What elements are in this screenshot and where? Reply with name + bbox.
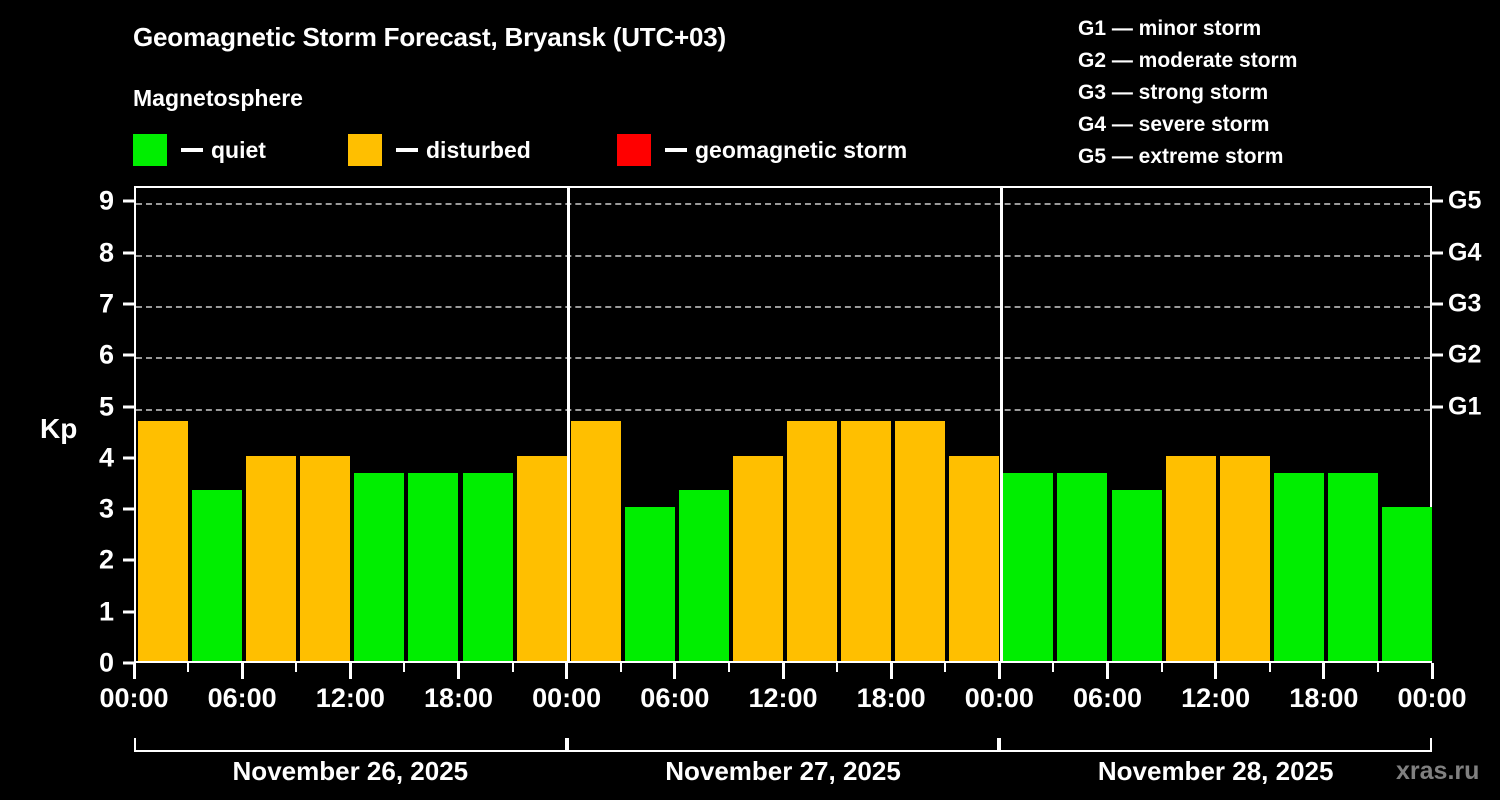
date-bracket [999, 738, 1432, 752]
g-tick-mark-g1 [1432, 405, 1443, 408]
kp-bar[interactable] [571, 421, 621, 661]
x-tick-major [673, 663, 676, 679]
x-tick-label: 18:00 [424, 683, 493, 714]
y-axis-ticks: 0123456789 [62, 186, 114, 663]
x-axis: 00:0006:0012:0018:0000:0006:0012:0018:00… [0, 663, 1500, 723]
x-tick-major [457, 663, 460, 679]
x-tick-minor [944, 663, 946, 672]
y-tick-mark-9 [123, 200, 134, 203]
y-tick-label-2: 2 [74, 545, 114, 576]
kp-bar[interactable] [1328, 473, 1378, 661]
x-tick-major [241, 663, 244, 679]
gridline-kp-6 [136, 357, 1430, 359]
magnetosphere-section-label: Magnetosphere [133, 85, 303, 112]
g-legend-row-g5: G5 — extreme storm [1078, 141, 1297, 173]
g-legend-row-g3: G3 — strong storm [1078, 77, 1297, 109]
quiet-legend-swatch-icon [133, 134, 167, 166]
kp-bar[interactable] [354, 473, 404, 661]
x-tick-major [1431, 663, 1434, 679]
x-tick-label: 00:00 [99, 683, 168, 714]
date-label: November 27, 2025 [665, 756, 901, 787]
date-axis: November 26, 2025November 27, 2025Novemb… [0, 738, 1500, 800]
g-tick-label-g5: G5 [1448, 187, 1481, 216]
y-tick-mark-6 [123, 354, 134, 357]
g-tick-label-g1: G1 [1448, 392, 1481, 421]
kp-bar[interactable] [1166, 456, 1216, 661]
kp-bar[interactable] [1382, 507, 1432, 661]
legend-dash-icon [181, 148, 203, 152]
x-tick-major [1106, 663, 1109, 679]
gridline-kp-8 [136, 255, 1430, 257]
kp-bar[interactable] [787, 421, 837, 661]
y-tick-label-6: 6 [74, 340, 114, 371]
geomagnetic-forecast-chart: Geomagnetic Storm Forecast, Bryansk (UTC… [0, 0, 1500, 800]
storm-legend-text: geomagnetic storm [695, 137, 907, 164]
x-tick-major [1322, 663, 1325, 679]
g-tick-label-g2: G2 [1448, 341, 1481, 370]
storm-legend: geomagnetic storm [617, 134, 907, 166]
x-tick-major [1214, 663, 1217, 679]
g-tick-mark-g4 [1432, 251, 1443, 254]
g-tick-mark-g2 [1432, 354, 1443, 357]
kp-bar[interactable] [408, 473, 458, 661]
date-bracket [567, 738, 1000, 752]
g-tick-mark-g5 [1432, 200, 1443, 203]
gridline-kp-7 [136, 306, 1430, 308]
day-separator [1000, 186, 1003, 663]
x-tick-label: 12:00 [316, 683, 385, 714]
y-tick-label-9: 9 [74, 186, 114, 217]
x-tick-minor [836, 663, 838, 672]
x-tick-label: 12:00 [1181, 683, 1250, 714]
x-tick-label: 06:00 [1073, 683, 1142, 714]
x-tick-minor [187, 663, 189, 672]
date-label: November 26, 2025 [233, 756, 469, 787]
g-legend-row-g2: G2 — moderate storm [1078, 45, 1297, 77]
x-tick-major [349, 663, 352, 679]
kp-bar[interactable] [300, 456, 350, 661]
g-tick-mark-g3 [1432, 302, 1443, 305]
plot-area [134, 186, 1432, 663]
y-tick-label-5: 5 [74, 391, 114, 422]
y-tick-mark-2 [123, 559, 134, 562]
x-tick-label: 12:00 [748, 683, 817, 714]
x-tick-minor [620, 663, 622, 672]
x-tick-major [890, 663, 893, 679]
y-tick-mark-7 [123, 302, 134, 305]
x-tick-label: 00:00 [532, 683, 601, 714]
quiet-legend: quiet [133, 134, 266, 166]
kp-bar[interactable] [138, 421, 188, 661]
kp-bar[interactable] [1112, 490, 1162, 661]
watermark: xras.ru [1396, 757, 1479, 786]
kp-bar[interactable] [679, 490, 729, 661]
y-tick-mark-0 [123, 662, 134, 665]
g-legend-row-g1: G1 — minor storm [1078, 13, 1297, 45]
g-tick-label-g3: G3 [1448, 289, 1481, 318]
kp-bar[interactable] [1220, 456, 1270, 661]
x-tick-minor [295, 663, 297, 672]
x-tick-minor [1161, 663, 1163, 672]
y-tick-mark-5 [123, 405, 134, 408]
plot-inner [136, 188, 1430, 661]
y-tick-mark-3 [123, 508, 134, 511]
x-tick-label: 00:00 [965, 683, 1034, 714]
y-tick-mark-1 [123, 610, 134, 613]
g-scale-axis: G1G2G3G4G5 [1432, 186, 1500, 663]
quiet-legend-text: quiet [211, 137, 266, 164]
x-tick-minor [1377, 663, 1379, 672]
disturbed-legend: disturbed [348, 134, 531, 166]
kp-bar[interactable] [463, 473, 513, 661]
x-tick-minor [403, 663, 405, 672]
g-legend-row-g4: G4 — severe storm [1078, 109, 1297, 141]
x-tick-minor [1052, 663, 1054, 672]
page-title: Geomagnetic Storm Forecast, Bryansk (UTC… [133, 22, 726, 53]
day-separator [567, 186, 570, 663]
kp-bar[interactable] [733, 456, 783, 661]
x-tick-label: 00:00 [1397, 683, 1466, 714]
legend-dash-icon [665, 148, 687, 152]
date-label: November 28, 2025 [1098, 756, 1334, 787]
gridline-kp-9 [136, 203, 1430, 205]
x-tick-label: 18:00 [1289, 683, 1358, 714]
disturbed-legend-swatch-icon [348, 134, 382, 166]
x-tick-minor [1269, 663, 1271, 672]
y-tick-mark-8 [123, 251, 134, 254]
storm-legend-swatch-icon [617, 134, 651, 166]
kp-bar[interactable] [1057, 473, 1107, 661]
kp-bar[interactable] [1003, 473, 1053, 661]
legend-dash-icon [396, 148, 418, 152]
y-tick-label-8: 8 [74, 237, 114, 268]
x-tick-major [782, 663, 785, 679]
kp-bar[interactable] [841, 421, 891, 661]
x-tick-minor [512, 663, 514, 672]
x-tick-major [998, 663, 1001, 679]
kp-bar[interactable] [625, 507, 675, 661]
kp-bar[interactable] [895, 421, 945, 661]
x-tick-label: 06:00 [208, 683, 277, 714]
y-tick-label-3: 3 [74, 494, 114, 525]
x-tick-label: 18:00 [857, 683, 926, 714]
x-tick-major [133, 663, 136, 679]
x-tick-label: 06:00 [640, 683, 709, 714]
y-tick-mark-4 [123, 456, 134, 459]
y-tick-label-7: 7 [74, 288, 114, 319]
kp-bar[interactable] [192, 490, 242, 661]
kp-bar[interactable] [246, 456, 296, 661]
kp-bar[interactable] [517, 456, 567, 661]
kp-bar[interactable] [949, 456, 999, 661]
g-tick-label-g4: G4 [1448, 238, 1481, 267]
y-tick-label-4: 4 [74, 442, 114, 473]
x-tick-minor [728, 663, 730, 672]
date-bracket [134, 738, 567, 752]
kp-bar[interactable] [1274, 473, 1324, 661]
g-scale-legend: G1 — minor stormG2 — moderate stormG3 — … [1078, 13, 1297, 173]
x-tick-major [565, 663, 568, 679]
gridline-kp-5 [136, 409, 1430, 411]
disturbed-legend-text: disturbed [426, 137, 531, 164]
y-tick-label-1: 1 [74, 596, 114, 627]
